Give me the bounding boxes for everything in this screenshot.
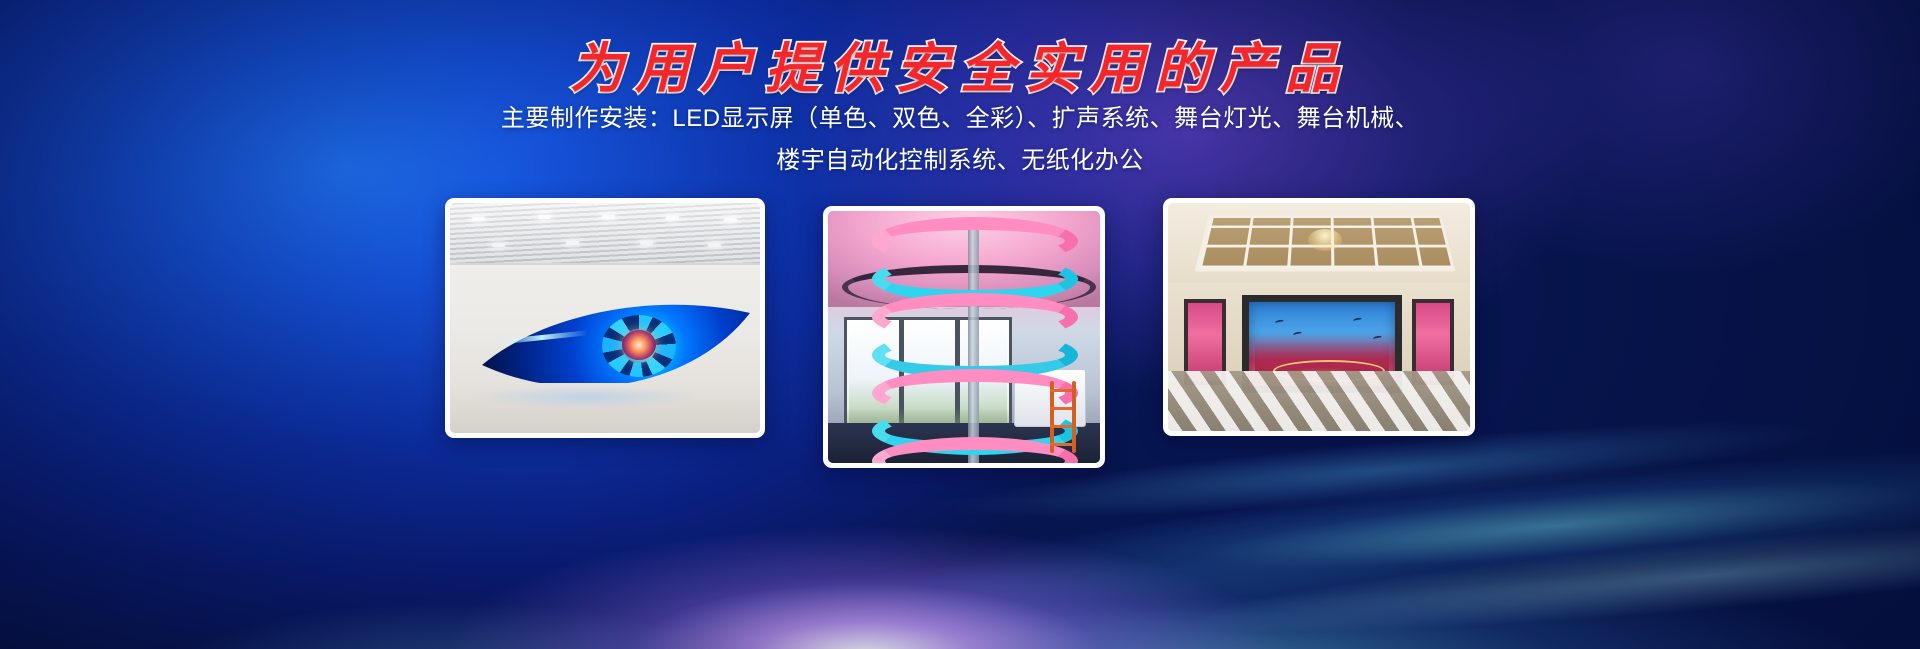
photo-a-led-core-glow — [622, 330, 656, 360]
photo-b-scene — [828, 211, 1100, 463]
banner-headline: 为用户提供安全实用的产品 — [0, 24, 1920, 103]
photo-conference-hall-led-wall — [1168, 203, 1470, 431]
photo-c-chandelier — [1308, 229, 1342, 251]
photo-b-ladder — [1050, 381, 1076, 453]
photo-gallery — [0, 198, 1920, 468]
photo-a-ceiling — [450, 203, 760, 265]
photo-a-floor — [450, 383, 760, 433]
banner-subtitle: 主要制作安装：LED显示屏（单色、双色、全彩）、扩声系统、舞台灯光、舞台机械、 … — [0, 98, 1920, 182]
subtitle-line-2: 楼宇自动化控制系统、无纸化办公 — [0, 140, 1920, 182]
photo-spiral-led-display — [828, 211, 1100, 463]
photo-card-spiral-led-display[interactable] — [823, 206, 1105, 468]
promo-banner: 为用户提供安全实用的产品 主要制作安装：LED显示屏（单色、双色、全彩）、扩声系… — [0, 0, 1920, 649]
photo-eye-shaped-led-display — [450, 203, 760, 433]
photo-c-floor — [1168, 371, 1470, 431]
photo-a-scene — [450, 203, 760, 433]
photo-c-scene — [1168, 203, 1470, 431]
photo-card-eye-shaped-led-display[interactable] — [445, 198, 765, 438]
photo-card-conference-hall-led-wall[interactable] — [1163, 198, 1475, 436]
subtitle-line-1: 主要制作安装：LED显示屏（单色、双色、全彩）、扩声系统、舞台灯光、舞台机械、 — [0, 98, 1920, 140]
